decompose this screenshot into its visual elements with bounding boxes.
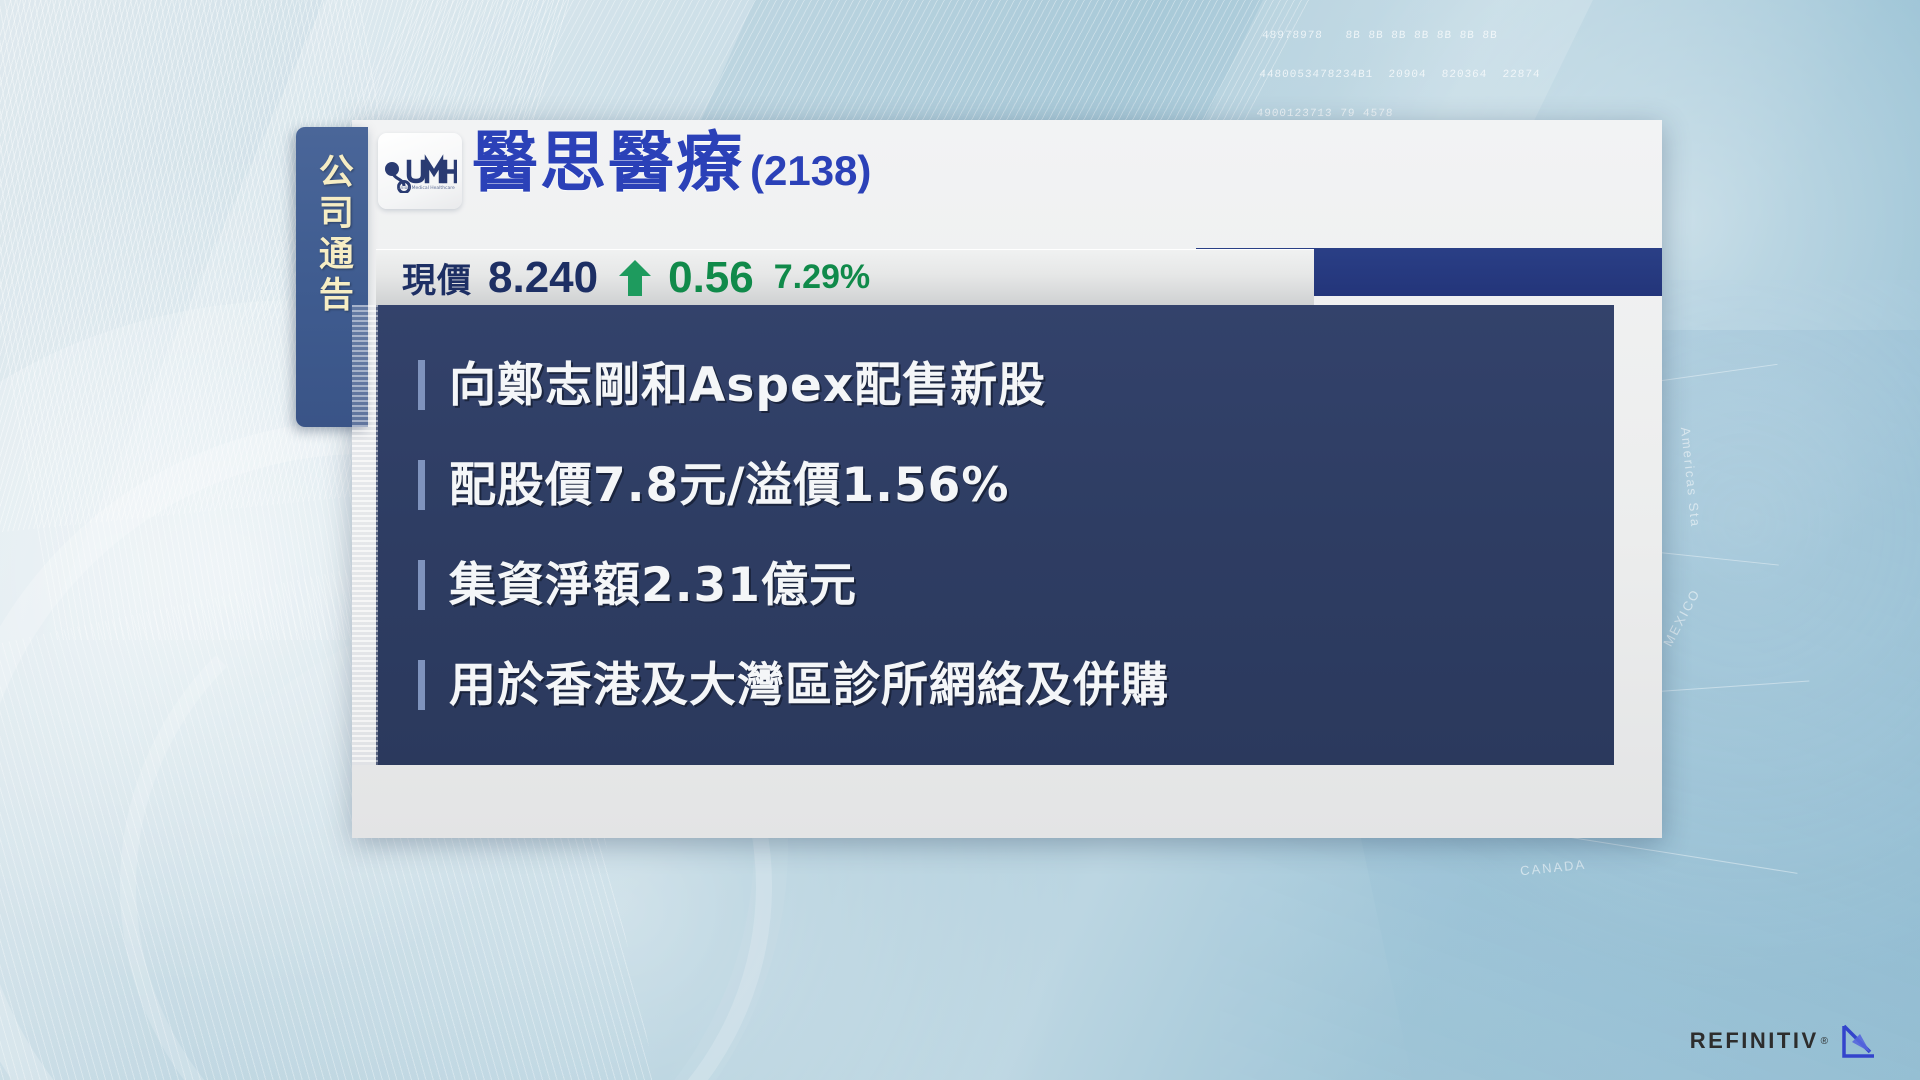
list-item: 用於香港及大灣區診所網絡及併購 bbox=[376, 635, 1614, 735]
list-item-text: 用於香港及大灣區診所網絡及併購 bbox=[449, 662, 1169, 709]
map-label-mexico: MEXICO bbox=[1660, 586, 1703, 649]
digit-row: 48978978 8B 8B 8B 8B 8B 8B 8B bbox=[1261, 30, 1902, 43]
category-tab-label: 公司通告 bbox=[313, 153, 351, 317]
bullet-marker-icon bbox=[418, 460, 425, 510]
price-change-percent: 7.29% bbox=[774, 258, 870, 297]
list-item: 集資淨額2.31億元 bbox=[376, 535, 1614, 635]
bullet-marker-icon bbox=[418, 560, 425, 610]
stock-code: (2138) bbox=[750, 150, 871, 192]
bullet-marker-icon bbox=[418, 360, 425, 410]
list-item: 向鄭志剛和Aspex配售新股 bbox=[376, 335, 1614, 435]
map-label-americas: Americas Sta bbox=[1678, 426, 1704, 528]
price-change: 0.56 bbox=[668, 253, 754, 303]
bullet-marker-icon bbox=[418, 660, 425, 710]
price-label: 現價 bbox=[402, 253, 472, 302]
price-bar: 現價 8.240 0.56 7.29% bbox=[376, 249, 1314, 305]
price-value: 8.240 bbox=[488, 253, 598, 303]
digit-row: 4480053478234B1 20904 820364 22874 bbox=[1259, 69, 1900, 82]
map-label-canada: CANADA bbox=[1519, 857, 1586, 879]
body-edge-stripe bbox=[352, 305, 378, 765]
list-item-text: 配股價7.8元/溢價1.56% bbox=[449, 462, 1009, 509]
list-item-text: 向鄭志剛和Aspex配售新股 bbox=[449, 362, 1046, 409]
refinitiv-branding: REFINITIV ® bbox=[1690, 1022, 1878, 1060]
refinitiv-trademark: ® bbox=[1821, 1036, 1828, 1047]
price-up-arrow-icon bbox=[618, 258, 652, 298]
company-title-row: 醫思醫療 (2138) bbox=[472, 130, 871, 212]
refinitiv-logo-icon bbox=[1840, 1022, 1878, 1060]
umh-logo-icon: Union Medical Healthcare bbox=[383, 149, 457, 193]
list-item-text: 集資淨額2.31億元 bbox=[449, 562, 857, 609]
company-logo: Union Medical Healthcare bbox=[378, 133, 462, 209]
umh-logo-tagline: Union Medical Healthcare bbox=[397, 185, 455, 191]
list-item: 配股價7.8元/溢價1.56% bbox=[376, 435, 1614, 535]
background-digit-field: 48978978 8B 8B 8B 8B 8B 8B 8B 4480053478… bbox=[1256, 4, 1904, 124]
company-name: 醫思醫療 bbox=[472, 130, 744, 196]
announcement-list: 向鄭志剛和Aspex配售新股 配股價7.8元/溢價1.56% 集資淨額2.31億… bbox=[376, 305, 1614, 765]
refinitiv-wordmark: REFINITIV bbox=[1690, 1028, 1819, 1054]
